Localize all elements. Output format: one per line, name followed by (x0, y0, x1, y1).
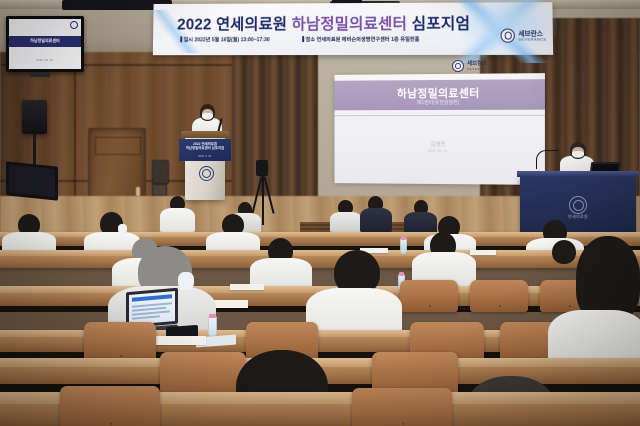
desk-paper (152, 336, 206, 345)
moderator-mask (572, 151, 584, 157)
monitor-slide-band: 하남정밀의료센터 (9, 36, 81, 47)
audience-head (552, 240, 576, 264)
severance-logo-en: SEVERANCE (518, 37, 546, 41)
audience-body (360, 208, 392, 232)
wall-control-panel[interactable] (152, 160, 169, 184)
water-bottle[interactable] (400, 238, 407, 254)
podium-severance-seal-icon (199, 166, 214, 181)
monitor-slide-footer: 2022. 05. 16. (9, 58, 81, 62)
banner-datetime-label: 일시 (184, 37, 193, 43)
banner-datetime: 일시 2022년 5월 16일(월) 13:00~17:30 (180, 36, 269, 43)
symposium-photo: 2022 연세의료원 하남정밀의료센터 심포지엄 일시 2022년 5월 16일… (0, 0, 640, 426)
wall-severance-seal-icon (452, 60, 464, 72)
head-table-drape-text: 연세의료원 (520, 214, 636, 220)
projection-screen: 하남정밀의료센터 제1센터(유전성질환) 김영진 2022. 05. 16. (334, 73, 544, 185)
stage-floor-monitor (6, 161, 58, 200)
banner-year: 2022 (177, 17, 212, 34)
event-banner: 2022 연세의료원 하남정밀의료센터 심포지엄 일시 2022년 5월 16일… (153, 2, 553, 55)
banner-center: 하남정밀의료센터 (292, 16, 408, 33)
slide-divider (334, 115, 544, 116)
banner-title: 2022 연세의료원 하남정밀의료센터 심포지엄 (165, 12, 483, 35)
empty-chair[interactable] (470, 280, 528, 312)
audience-body (330, 212, 362, 232)
audience-body (404, 212, 437, 234)
podium-sign-line2: 하남정밀의료센터 심포지엄 (186, 146, 224, 150)
head-table-top (517, 171, 639, 177)
pa-speaker (22, 100, 47, 134)
auxiliary-monitor-screen: 하남정밀의료센터 2022. 05. 16. (9, 19, 81, 69)
wall-outlet (152, 184, 167, 196)
banner-org: 연세의료원 (216, 16, 287, 33)
empty-chair[interactable] (60, 386, 160, 426)
wall-severance-logo: 세브란스 SEVERANCE (452, 60, 491, 72)
head-table-seal-icon (569, 196, 587, 214)
empty-chair[interactable] (352, 388, 452, 426)
banner-venue: 장소 연세의료원 에비슨의생명연구센터 1층 유일한홀 (302, 36, 419, 43)
camera-head (256, 160, 268, 176)
stage-curtain-center (232, 52, 318, 202)
empty-chair[interactable] (400, 280, 458, 312)
desk-row (0, 250, 640, 268)
empty-chair[interactable] (84, 322, 156, 362)
severance-logo-ko: 세브란스 (518, 30, 546, 37)
audience-mask (118, 224, 127, 234)
slide-subtitle: 제1센터(유전성질환) (334, 99, 544, 107)
severance-seal-icon (501, 29, 515, 43)
tripod-center-leg (262, 175, 264, 225)
banner-severance-logo: 세브란스 SEVERANCE (501, 28, 547, 42)
desk-paper (470, 250, 496, 255)
monitor-slide-title: 하남정밀의료센터 (9, 38, 81, 44)
desk-paper (230, 284, 264, 290)
head-table-microphone (536, 150, 559, 169)
banner-venue-value: 연세의료원 에비슨의생명연구센터 1층 유일한홀 (317, 37, 420, 43)
head-table: 연세의료원 (520, 176, 636, 236)
door-handle[interactable] (136, 187, 140, 196)
door-panel (95, 137, 141, 155)
slide-date: 2022. 05. 16. (334, 149, 544, 154)
banner-venue-label: 장소 (306, 37, 316, 43)
podium-sign: 2022 연세의료원 하남정밀의료센터 심포지엄 2022. 5. 16. (179, 139, 231, 161)
slide-presenter: 김영진 (334, 140, 544, 148)
water-bottle[interactable] (208, 316, 217, 336)
monitor-mount (30, 72, 50, 77)
podium-sign-line3: 2022. 5. 16. (179, 155, 231, 158)
podium-top (181, 131, 229, 138)
audience-body (160, 208, 195, 232)
auxiliary-monitor: 하남정밀의료센터 2022. 05. 16. (6, 16, 84, 72)
laptop-screen (129, 291, 175, 325)
banner-event: 심포지엄 (412, 16, 471, 33)
audience-mask (178, 272, 194, 290)
banner-datetime-value: 2022년 5월 16일(월) 13:00~17:30 (194, 37, 269, 43)
presenter-mask (202, 113, 213, 119)
wall-logo-en: SEVERANCE (467, 67, 491, 71)
monitor-slide-seal-icon (70, 21, 78, 29)
podium: 2022 연세의료원 하남정밀의료센터 심포지엄 2022. 5. 16. (185, 136, 225, 200)
